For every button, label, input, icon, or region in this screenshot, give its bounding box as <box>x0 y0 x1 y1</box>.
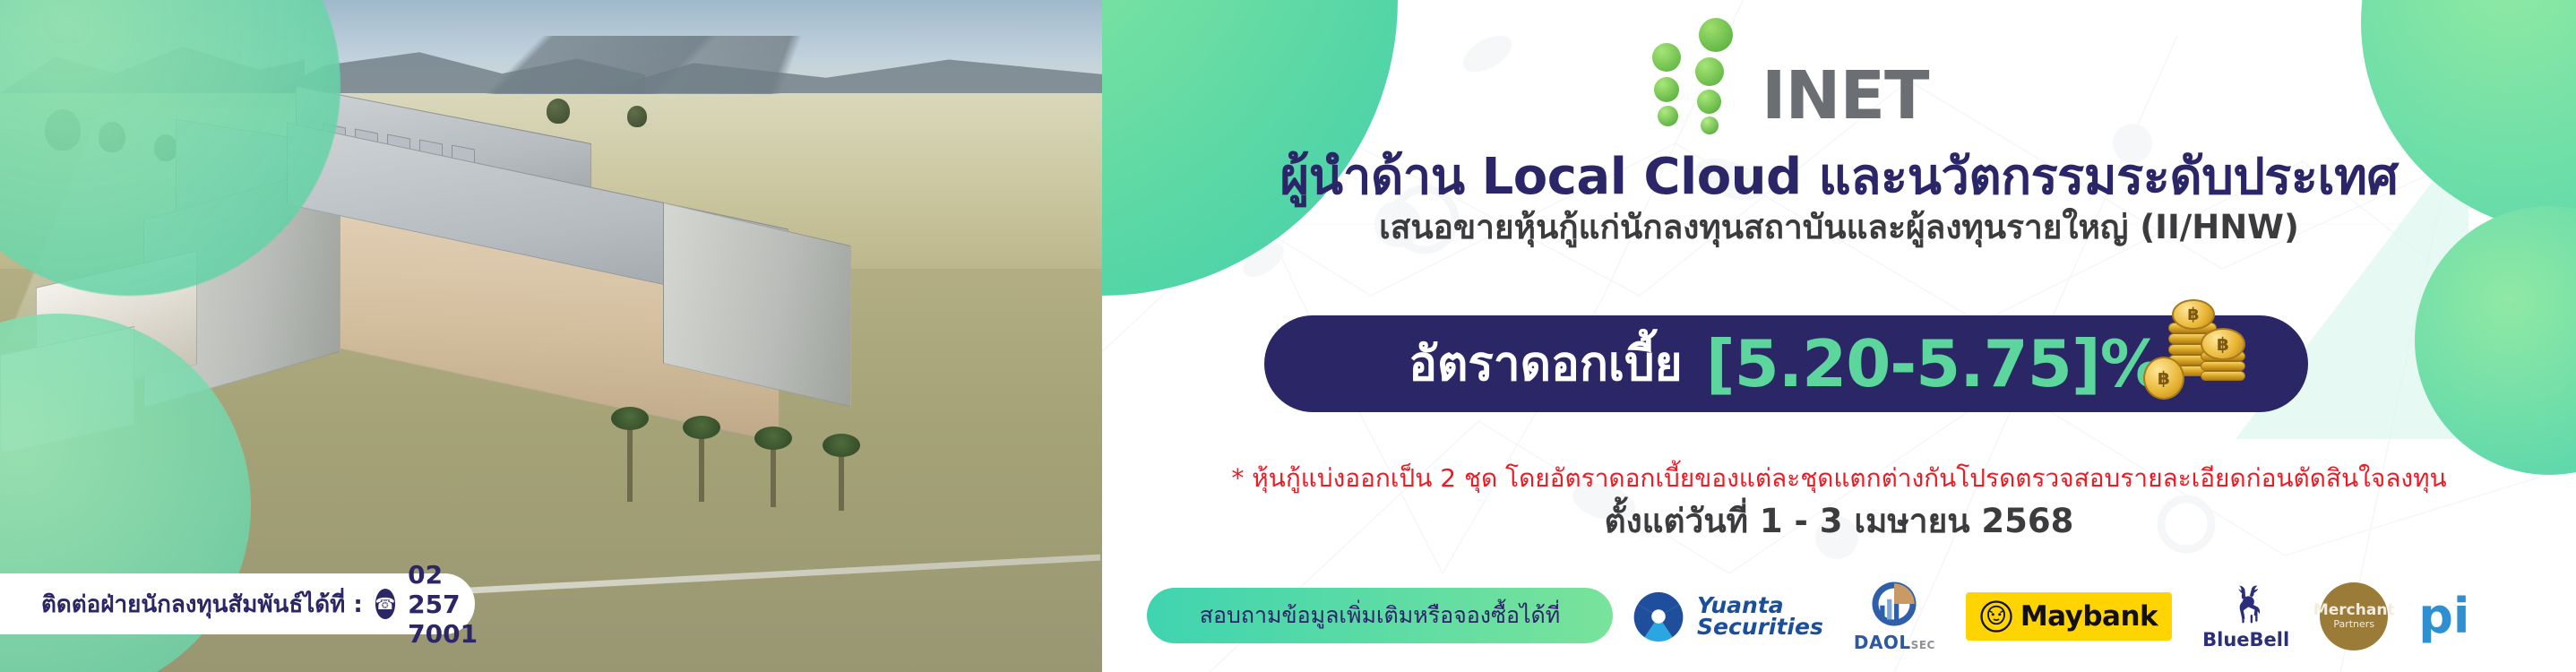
merchant-sub: Partners <box>2333 619 2374 630</box>
yuanta-line-2: Securities <box>1697 616 1823 638</box>
inet-wordmark: INET <box>1762 57 1929 134</box>
merchant-label: Merchant <box>2313 603 2395 619</box>
investor-relations-phone[interactable]: 02 257 7001 <box>408 560 478 649</box>
tree <box>627 106 647 127</box>
logo-dot <box>1701 116 1719 134</box>
partner-logo-merchant-partners[interactable]: Merchant Partners <box>2320 582 2388 650</box>
palm-tree <box>771 441 776 507</box>
offering-dates: ตั้งแต่วันที่ 1 - 3 เมษายน 2568 <box>1102 495 2576 547</box>
bitcoin-coin: ฿ <box>2143 357 2184 400</box>
content-panel: INET ผู้นำด้าน Local Cloud และนวัตกรรมระ… <box>1102 0 2576 672</box>
logo-dot <box>1699 18 1733 52</box>
page-subtitle: เสนอขายหุ้นกู้แก่นักลงทุนสถาบันและผู้ลงท… <box>1102 201 2576 254</box>
partner-logo-maybank[interactable]: Maybank <box>1966 592 2172 641</box>
logo-dot <box>1652 43 1681 72</box>
footnote-disclaimer: * หุ้นกู้แบ่งออกเป็น 2 ชุด โดยอัตราดอกเบ… <box>1102 459 2576 498</box>
pi-wordmark: pi <box>2418 592 2469 641</box>
interest-rate-label: อัตราดอกเบี้ย <box>1409 326 1683 401</box>
logo-dot <box>1695 57 1724 86</box>
logo-dot <box>1658 106 1678 126</box>
palm-tree <box>627 421 633 502</box>
bluebell-stag-icon <box>2223 582 2270 627</box>
phone-icon: ☎ <box>375 589 395 619</box>
investor-relations-card: ติดต่อฝ่ายนักลงทุนสัมพันธ์ได้ที่ : ☎ 02 … <box>0 573 475 634</box>
bitcoin-coin: ฿ <box>2201 328 2245 360</box>
interest-rate-badge: อัตราดอกเบี้ย [5.20-5.75]% ฿ ฿ ฿ <box>1264 315 2308 412</box>
partner-logo-daol[interactable]: DAOLSEC <box>1854 579 1935 653</box>
daol-suffix: SEC <box>1911 639 1935 651</box>
partner-logo-pi[interactable]: pi <box>2418 592 2469 641</box>
cta-pill-button[interactable]: สอบถามข้อมูลเพิ่มเติมหรือจองซื้อได้ที่ <box>1147 588 1613 643</box>
logo-dot <box>1697 90 1721 114</box>
palm-tree <box>699 430 704 502</box>
maybank-wordmark: Maybank <box>2020 600 2158 633</box>
inet-bond-offering-banner: INET ผู้นำด้าน Local Cloud และนวัตกรรมระ… <box>0 0 2576 672</box>
yuanta-star-icon <box>1631 589 1686 644</box>
palm-tree <box>839 448 844 511</box>
interest-rate-value: [5.20-5.75]% <box>1706 326 2164 401</box>
data-center-aerial-photo <box>0 0 1102 672</box>
coin-stack-layer <box>2201 371 2245 381</box>
merchant-circle-icon: Merchant Partners <box>2320 582 2388 650</box>
tree <box>547 99 570 124</box>
bluebell-wordmark: BlueBell <box>2202 629 2289 650</box>
partner-logo-bluebell[interactable]: BlueBell <box>2202 582 2289 650</box>
yuanta-wordmark: Yuanta Securities <box>1697 595 1823 638</box>
logo-dot <box>1654 77 1679 102</box>
investor-relations-label: ติดต่อฝ่ายนักลงทุนสัมพันธ์ได้ที่ : <box>41 586 363 623</box>
coin-stack-layer <box>2201 361 2245 371</box>
daol-circle-icon <box>1869 579 1919 629</box>
partner-logos-row: Yuanta Securities DAOLSEC <box>1631 573 2545 659</box>
bitcoin-coin: ฿ <box>2172 299 2215 330</box>
maybank-tiger-icon <box>1980 600 2012 633</box>
yuanta-line-1: Yuanta <box>1697 595 1823 616</box>
daol-label: DAOL <box>1854 632 1911 653</box>
partner-logo-yuanta[interactable]: Yuanta Securities <box>1631 589 1823 644</box>
inet-logo[interactable]: INET <box>1629 11 1925 129</box>
daol-wordmark: DAOLSEC <box>1854 632 1935 653</box>
gold-coins-icon: ฿ ฿ ฿ <box>2132 296 2249 421</box>
